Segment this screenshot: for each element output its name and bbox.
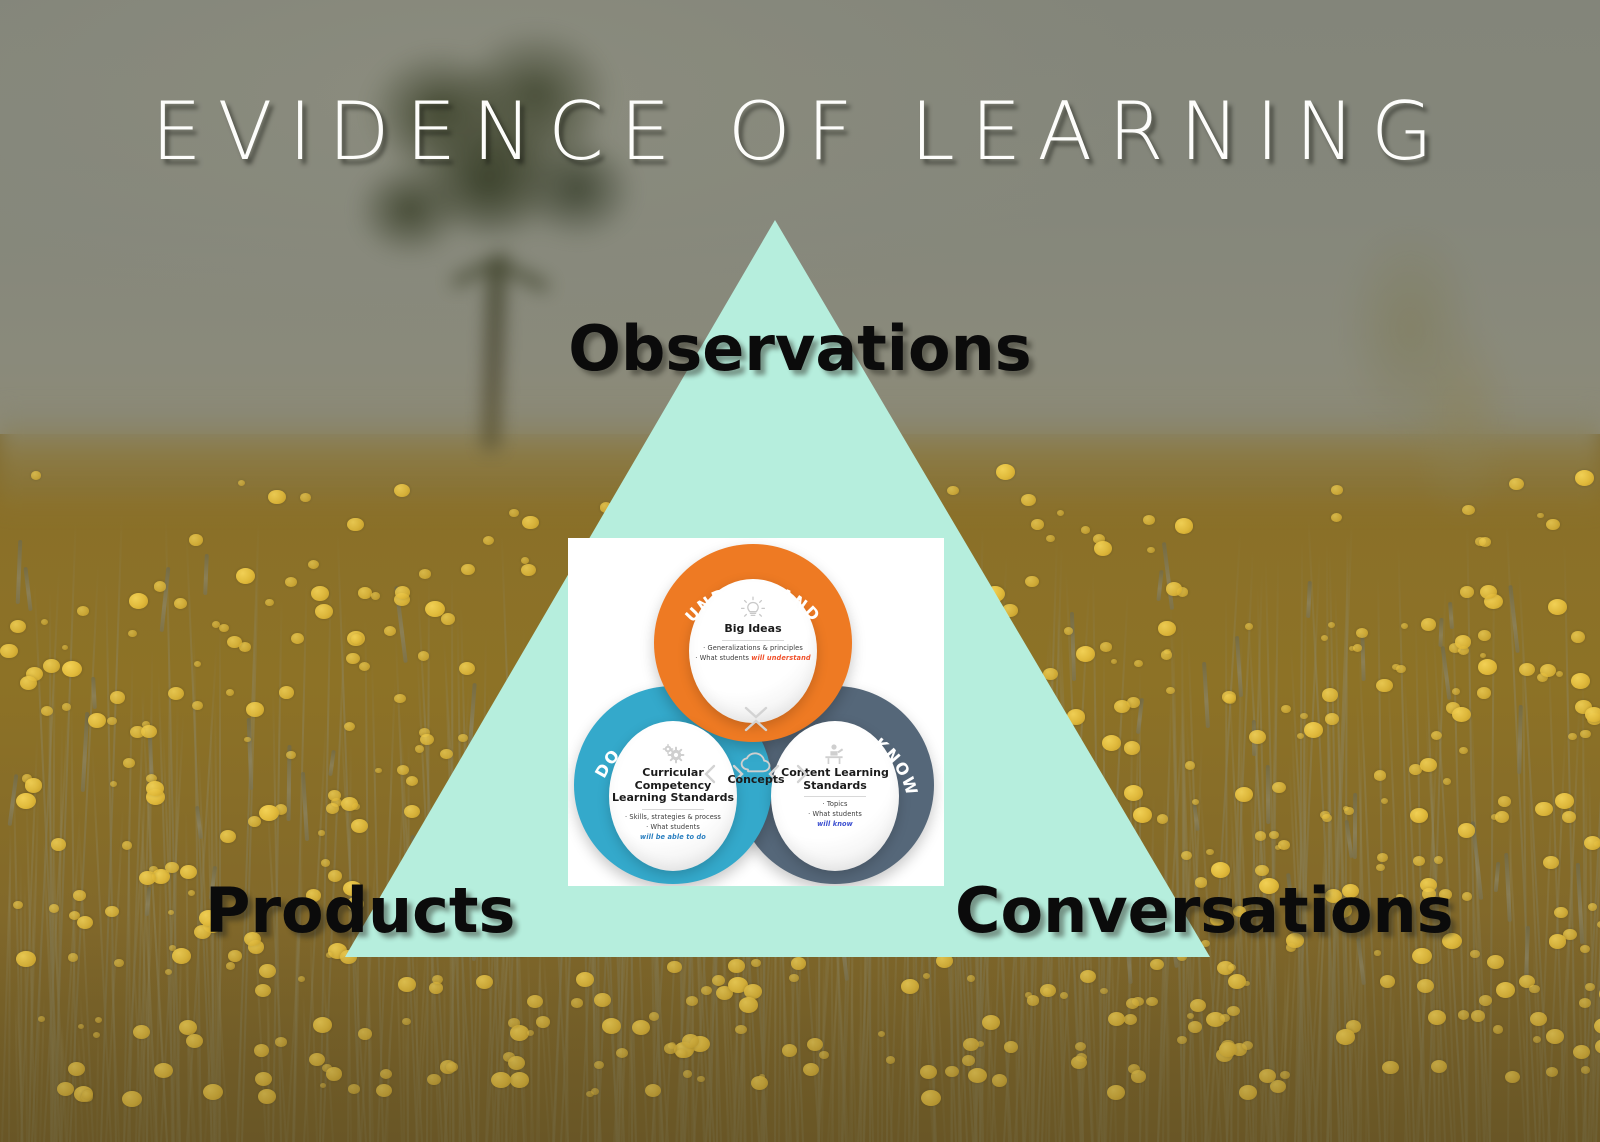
- grass-spike: [1494, 862, 1501, 892]
- grass-spike: [1070, 612, 1076, 681]
- grass-spike: [329, 750, 337, 776]
- flower-bud: [248, 816, 261, 827]
- flower-bud: [1249, 730, 1266, 744]
- flower-bud: [991, 724, 1000, 731]
- flower-bud: [1410, 808, 1429, 823]
- flower-bud: [1325, 713, 1340, 725]
- flower-bud: [549, 661, 556, 666]
- flower-bud: [996, 464, 1016, 480]
- hub-bullets-big-ideas: · Generalizations & principles · What st…: [695, 644, 810, 664]
- flower-bud: [947, 486, 959, 495]
- flower-bud: [344, 722, 355, 731]
- flower-bud: [1478, 659, 1498, 675]
- flower-bud: [311, 586, 329, 601]
- flower-bud: [1546, 519, 1560, 530]
- flower-bud: [1111, 659, 1117, 664]
- flower-bud: [1094, 541, 1112, 556]
- flower-bud: [1057, 510, 1064, 516]
- flower-bud: [1519, 663, 1535, 676]
- flower-bud: [220, 830, 236, 843]
- flower-bud: [1157, 814, 1169, 824]
- flower-bud: [727, 509, 747, 525]
- bullet-line: · What students will understand: [695, 654, 810, 664]
- flower-bud: [1067, 709, 1086, 725]
- flower-bud: [1480, 585, 1497, 599]
- flower-bud: [1070, 854, 1081, 863]
- flower-bud: [1413, 856, 1425, 866]
- flower-bud: [458, 734, 468, 742]
- flower-bud: [62, 661, 82, 677]
- flower-bud: [1588, 903, 1598, 911]
- flower-bud: [146, 781, 164, 796]
- flower-bud: [1300, 713, 1307, 719]
- flower-bud: [511, 734, 528, 748]
- flower-bud: [1269, 831, 1279, 839]
- flower-bud: [1064, 627, 1074, 635]
- flower-bud: [429, 841, 443, 853]
- flower-bud: [857, 480, 865, 486]
- flower-bud: [418, 651, 430, 661]
- flower-bud: [911, 527, 923, 536]
- flower-bud: [420, 734, 434, 745]
- flower-bud: [285, 577, 297, 587]
- flower-bud: [1543, 856, 1559, 869]
- flower-bud: [346, 653, 360, 664]
- flower-bud: [438, 861, 455, 875]
- grass-spike: [91, 677, 97, 709]
- center-concepts-node: Concepts: [712, 706, 800, 790]
- bullet-emphasis: will know: [808, 820, 862, 830]
- bullet-line: · Skills, strategies & process: [625, 813, 721, 823]
- flower-bud: [1185, 761, 1196, 770]
- flower-bud: [62, 703, 71, 711]
- page-title: EVIDENCE OF LEARNING: [0, 92, 1600, 172]
- flower-bud: [1002, 604, 1017, 617]
- flower-bud: [1376, 679, 1392, 692]
- flower-bud: [219, 624, 229, 632]
- flower-bud: [1377, 853, 1388, 862]
- grass-spike: [1202, 662, 1210, 728]
- flower-bud: [154, 581, 167, 592]
- concepts-label: Concepts: [727, 773, 784, 786]
- flower-bud: [1460, 586, 1474, 598]
- flower-bud: [10, 620, 26, 633]
- flower-bud: [1161, 650, 1173, 660]
- flower-bud: [41, 619, 48, 625]
- flower-bud: [515, 905, 523, 912]
- flower-bud: [1281, 705, 1291, 713]
- triangle-label-conversations: Conversations: [955, 880, 1454, 942]
- flower-bud: [1021, 494, 1036, 506]
- student-desk-icon: [822, 743, 848, 765]
- flower-bud: [1462, 892, 1473, 901]
- flower-bud: [1356, 628, 1368, 638]
- flower-bud: [326, 803, 339, 814]
- flower-bud: [129, 593, 149, 609]
- flower-bud: [1114, 700, 1130, 713]
- hub-divider: [804, 796, 866, 797]
- cloud-icon: [739, 751, 773, 773]
- flower-bud: [1452, 707, 1471, 722]
- flower-bud: [1555, 793, 1574, 809]
- flower-bud: [1003, 774, 1017, 786]
- flower-bud: [825, 476, 841, 489]
- flower-bud: [968, 619, 975, 625]
- flower-bud: [425, 601, 445, 617]
- flower-bud: [1235, 787, 1253, 802]
- flower-bud: [1031, 519, 1044, 530]
- bullet-line: · What students: [625, 823, 721, 833]
- flower-bud: [286, 751, 296, 759]
- flower-bud: [1571, 673, 1590, 689]
- flower-bud: [394, 694, 405, 703]
- flower-bud: [1459, 747, 1468, 754]
- flower-bud: [110, 781, 117, 787]
- flower-bud: [419, 569, 431, 579]
- flower-bud: [1458, 823, 1476, 838]
- flower-bud: [1535, 802, 1553, 816]
- flower-bud: [41, 706, 53, 716]
- flower-bud: [73, 890, 86, 901]
- flower-bud: [943, 774, 952, 782]
- flower-bud: [1479, 537, 1492, 547]
- flower-bud: [192, 701, 203, 710]
- flower-bud: [128, 630, 137, 637]
- grass-spike: [16, 540, 23, 604]
- triangle-label-observations: Observations: [568, 318, 1031, 380]
- flower-bud: [1278, 840, 1290, 850]
- flower-bud: [1102, 735, 1121, 751]
- flower-bud: [1012, 703, 1024, 713]
- flower-bud: [1025, 576, 1038, 587]
- flower-bud: [395, 586, 411, 599]
- flower-bud: [107, 717, 117, 725]
- flower-bud: [955, 781, 970, 794]
- flower-bud: [212, 621, 220, 628]
- flower-bud: [415, 745, 424, 753]
- flower-bud: [244, 737, 251, 742]
- grass-spike: [1361, 634, 1366, 681]
- flower-bud: [952, 556, 964, 566]
- flower-bud: [1043, 668, 1058, 680]
- flower-bud: [123, 758, 135, 768]
- flower-bud: [1320, 811, 1330, 819]
- flower-bud: [517, 859, 531, 870]
- flower-bud: [1498, 796, 1511, 807]
- hub-title-line: Learning Standards: [612, 791, 734, 804]
- flower-bud: [291, 633, 304, 644]
- hub-divider: [642, 809, 704, 810]
- flower-bud: [953, 845, 964, 854]
- grass-spike: [1306, 581, 1312, 618]
- flower-bud: [1376, 864, 1385, 871]
- flower-bud: [548, 638, 563, 650]
- flower-bud: [397, 765, 409, 775]
- flower-bud: [194, 661, 202, 667]
- flower-bud: [268, 490, 285, 504]
- flower-bud: [149, 866, 158, 873]
- flower-bud: [1421, 618, 1436, 631]
- hub-title-line: Standards: [803, 779, 867, 792]
- flower-bud: [62, 645, 68, 650]
- flower-bud: [246, 702, 264, 717]
- flower-bud: [165, 862, 179, 873]
- flower-bud: [1571, 631, 1585, 643]
- flower-bud: [522, 516, 538, 529]
- flower-bud: [359, 662, 370, 671]
- flower-bud: [371, 592, 380, 600]
- flower-bud: [497, 803, 512, 815]
- flower-bud: [1014, 688, 1026, 698]
- flower-bud: [1304, 722, 1323, 738]
- hub-bullets-content-learning: · Topics · What students will know: [808, 800, 862, 830]
- bullet-line: · Generalizations & principles: [695, 644, 810, 654]
- flower-bud: [1147, 547, 1155, 553]
- flower-bud: [521, 564, 536, 576]
- bullet-prefix: · What students: [695, 654, 751, 662]
- slide-canvas: EVIDENCE OF LEARNING Observations Produc…: [0, 0, 1600, 1142]
- flower-bud: [77, 606, 89, 616]
- flower-bud: [887, 891, 906, 907]
- flower-bud: [509, 509, 519, 517]
- flower-bud: [1134, 660, 1143, 667]
- flower-bud: [1322, 688, 1338, 702]
- flower-bud: [189, 534, 203, 546]
- flower-bud: [1124, 741, 1141, 755]
- flower-bud: [958, 670, 967, 677]
- flower-bud: [955, 740, 974, 756]
- flower-bud: [1495, 811, 1509, 823]
- bullet-emphasis: will understand: [751, 654, 810, 662]
- flower-bud: [110, 691, 125, 704]
- flower-bud: [1272, 782, 1286, 793]
- flower-bud: [404, 854, 417, 864]
- flower-bud: [315, 604, 333, 619]
- flower-bud: [404, 805, 420, 818]
- flower-bud: [506, 700, 525, 715]
- flower-bud: [236, 568, 256, 584]
- flower-bud: [351, 634, 363, 644]
- grass-spike: [437, 803, 446, 844]
- hub-title-line: Curricular Competency: [635, 766, 712, 792]
- flower-bud: [600, 502, 613, 513]
- know-do-understand-diagram: UNDERSTAND DO KNOW Big Ide: [568, 538, 944, 886]
- flower-bud: [1556, 671, 1563, 677]
- grass-spike: [203, 554, 209, 595]
- flower-bud: [174, 598, 188, 609]
- flower-bud: [1401, 623, 1409, 629]
- flower-bud: [1222, 691, 1236, 703]
- flower-bud: [1046, 535, 1055, 542]
- flower-bud: [1081, 526, 1090, 534]
- flower-bud: [0, 644, 17, 658]
- bullet-line: · What students: [808, 810, 862, 820]
- flower-bud: [1092, 781, 1107, 793]
- grass-spike: [1119, 824, 1124, 866]
- flower-bud: [88, 713, 106, 728]
- flower-bud: [238, 480, 245, 486]
- flower-bud: [1158, 621, 1176, 636]
- flower-bud: [265, 599, 274, 606]
- flower-bud: [308, 560, 319, 569]
- flower-bud: [1133, 807, 1152, 823]
- flower-bud: [985, 586, 1005, 602]
- flower-bud: [1181, 851, 1192, 860]
- bullet-emphasis: will be able to do: [625, 833, 721, 843]
- flower-bud: [520, 660, 536, 673]
- flower-bud: [279, 686, 295, 699]
- flower-bud: [668, 517, 681, 528]
- flower-bud: [122, 841, 133, 850]
- flower-bud: [1580, 730, 1590, 738]
- hub-big-ideas: Big Ideas · Generalizations & principles…: [689, 579, 817, 723]
- flower-bud: [482, 817, 496, 828]
- hub-title-big-ideas: Big Ideas: [724, 623, 781, 636]
- flower-bud: [347, 518, 363, 531]
- flower-bud: [1143, 515, 1156, 525]
- flower-bud: [139, 871, 157, 885]
- flower-bud: [16, 793, 36, 809]
- hub-divider: [722, 640, 784, 641]
- flower-bud: [1206, 849, 1213, 855]
- flower-bud: [226, 689, 235, 696]
- lightbulb-icon: [739, 595, 767, 621]
- bullet-line: · Topics: [808, 800, 862, 810]
- flower-bud: [1575, 470, 1595, 486]
- flower-bud: [318, 830, 325, 836]
- flower-bud: [1021, 806, 1032, 815]
- grass-spike: [1162, 542, 1174, 610]
- flower-bud: [1540, 664, 1556, 677]
- flower-bud: [1477, 687, 1491, 699]
- flower-bud: [471, 830, 481, 838]
- flower-bud: [459, 662, 475, 675]
- flower-bud: [1537, 513, 1544, 518]
- flower-bud: [1353, 644, 1362, 652]
- grass-spike: [1156, 570, 1163, 601]
- flower-bud: [1452, 688, 1460, 695]
- flower-bud: [1175, 518, 1194, 534]
- flower-bud: [1443, 778, 1451, 785]
- flower-bud: [375, 768, 382, 773]
- flower-bud: [1455, 635, 1472, 649]
- flower-bud: [188, 890, 195, 896]
- flower-bud: [168, 687, 184, 700]
- flower-bud: [1548, 599, 1568, 615]
- flower-bud: [43, 659, 60, 673]
- flower-bud: [20, 676, 37, 690]
- flower-bud: [394, 484, 410, 497]
- flower-bud: [1166, 582, 1182, 596]
- flower-bud: [1478, 630, 1491, 641]
- grass-spike: [23, 567, 32, 611]
- flower-bud: [180, 865, 198, 879]
- flower-bud: [1124, 785, 1143, 801]
- flower-bud: [13, 901, 23, 909]
- gears-icon: [659, 743, 687, 765]
- triangle-label-products: Products: [205, 880, 515, 942]
- flower-bud: [956, 760, 967, 769]
- flower-bud: [1420, 758, 1437, 772]
- flower-bud: [513, 787, 533, 803]
- flower-bud: [1584, 836, 1600, 850]
- flower-bud: [1585, 707, 1600, 722]
- flower-bud: [1331, 513, 1342, 522]
- flower-bud: [483, 536, 494, 545]
- flower-bud: [25, 778, 43, 793]
- flower-bud: [461, 564, 475, 575]
- flower-bud: [417, 854, 432, 866]
- flower-bud: [548, 702, 566, 716]
- flower-bud: [141, 725, 157, 738]
- flower-bud: [796, 514, 808, 524]
- flower-bud: [1255, 831, 1267, 841]
- flower-bud: [1100, 642, 1112, 652]
- flower-bud: [300, 493, 311, 502]
- flower-bud: [1374, 770, 1387, 781]
- hub-bullets-curricular-competency: · Skills, strategies & process · What st…: [625, 813, 721, 843]
- flower-bud: [1462, 505, 1474, 515]
- flower-bud: [1480, 653, 1486, 658]
- flower-bud: [259, 805, 279, 821]
- flower-bud: [1381, 798, 1388, 804]
- grass-spike: [1353, 793, 1357, 859]
- flower-bud: [1434, 856, 1443, 864]
- flower-bud: [1053, 723, 1061, 730]
- flower-bud: [1509, 478, 1524, 490]
- flower-bud: [441, 613, 455, 625]
- flower-bud: [1331, 485, 1343, 495]
- flower-bud: [31, 471, 42, 480]
- flower-bud: [1245, 623, 1253, 630]
- flower-bud: [406, 776, 419, 786]
- flower-bud: [1076, 646, 1095, 662]
- flower-bud: [321, 859, 331, 867]
